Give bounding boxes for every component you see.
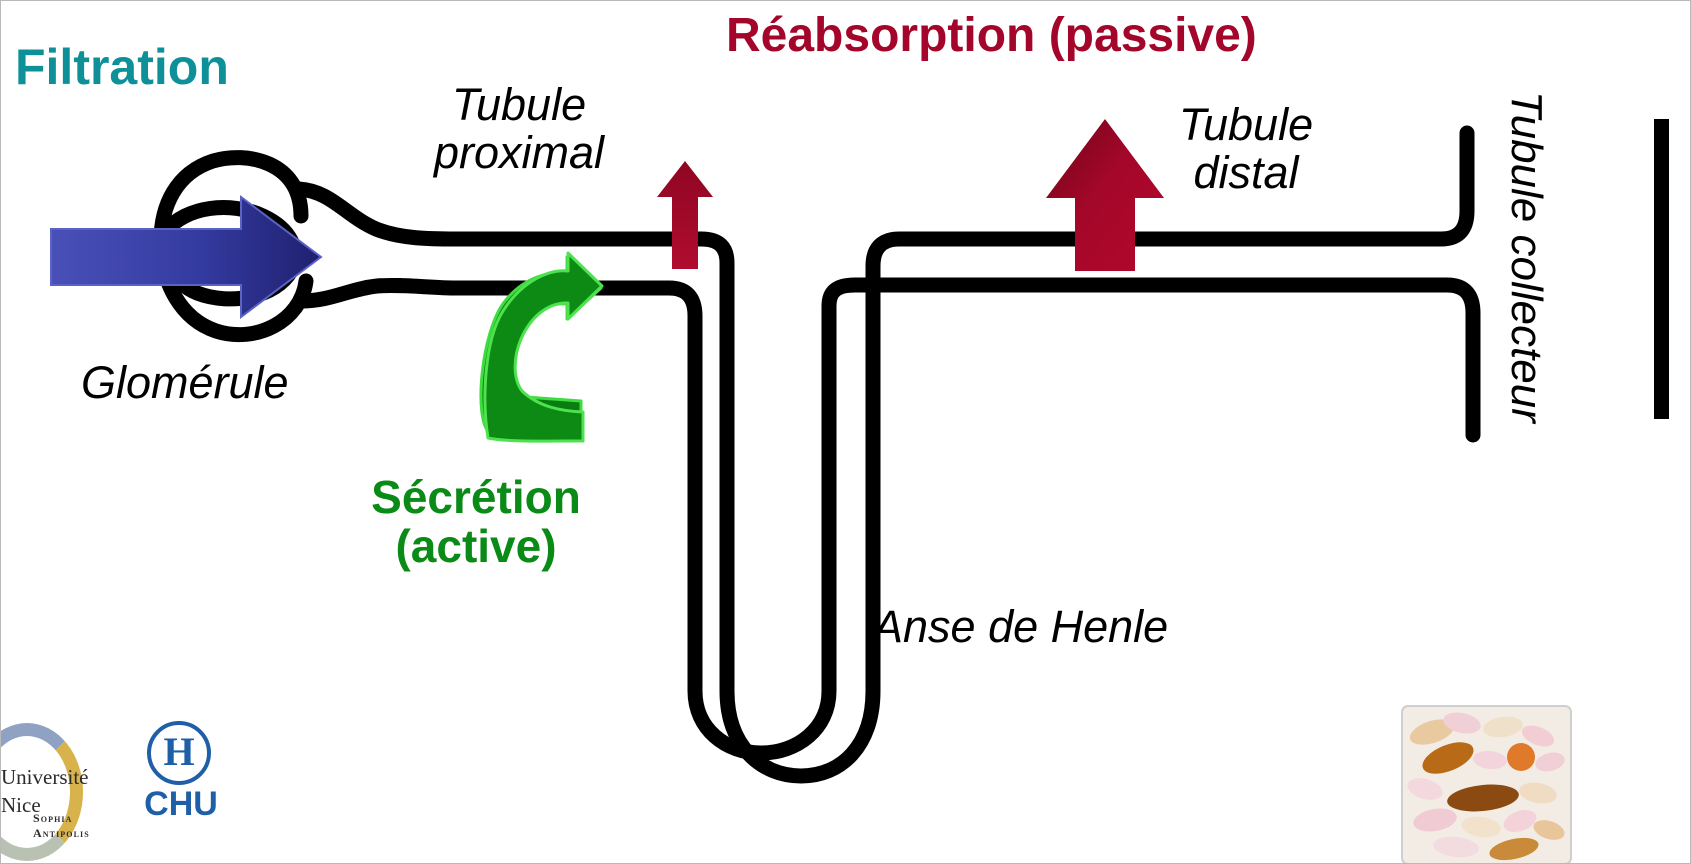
logo-universite-nice: UniversitéNice Sophia Antipolis [1, 715, 121, 864]
label-tubule-collecteur: Tubule collecteur [1502, 91, 1549, 423]
collecting-duct-bar [1654, 119, 1669, 419]
tubule-upper-wall [299, 133, 1467, 776]
nephron-diagram-slide: Filtration Réabsorption (passive) Sécrét… [0, 0, 1691, 864]
unice-line1: Université [1, 765, 88, 789]
chu-name: CHU [141, 785, 221, 824]
label-glomerule: Glomérule [81, 359, 289, 407]
label-secretion: Sécrétion(active) [346, 473, 606, 571]
logo-chu: H CHU [141, 719, 221, 864]
label-anse-de-henle: Anse de Henle [873, 603, 1168, 651]
label-secretion-line2: (active) [395, 520, 556, 572]
label-secretion-line1: Sécrétion [371, 471, 581, 523]
chu-monogram: H [162, 733, 196, 771]
label-tubule-distal: Tubule distal [1146, 101, 1346, 196]
unice-subtitle: Sophia Antipolis [33, 811, 121, 841]
reabsorption-arrow-small [657, 151, 713, 269]
label-filtration: Filtration [15, 41, 229, 94]
pills-photo [1401, 705, 1572, 864]
label-reabsorption: Réabsorption (passive) [726, 11, 1257, 62]
label-tubule-proximal: Tubule proximal [419, 81, 619, 176]
